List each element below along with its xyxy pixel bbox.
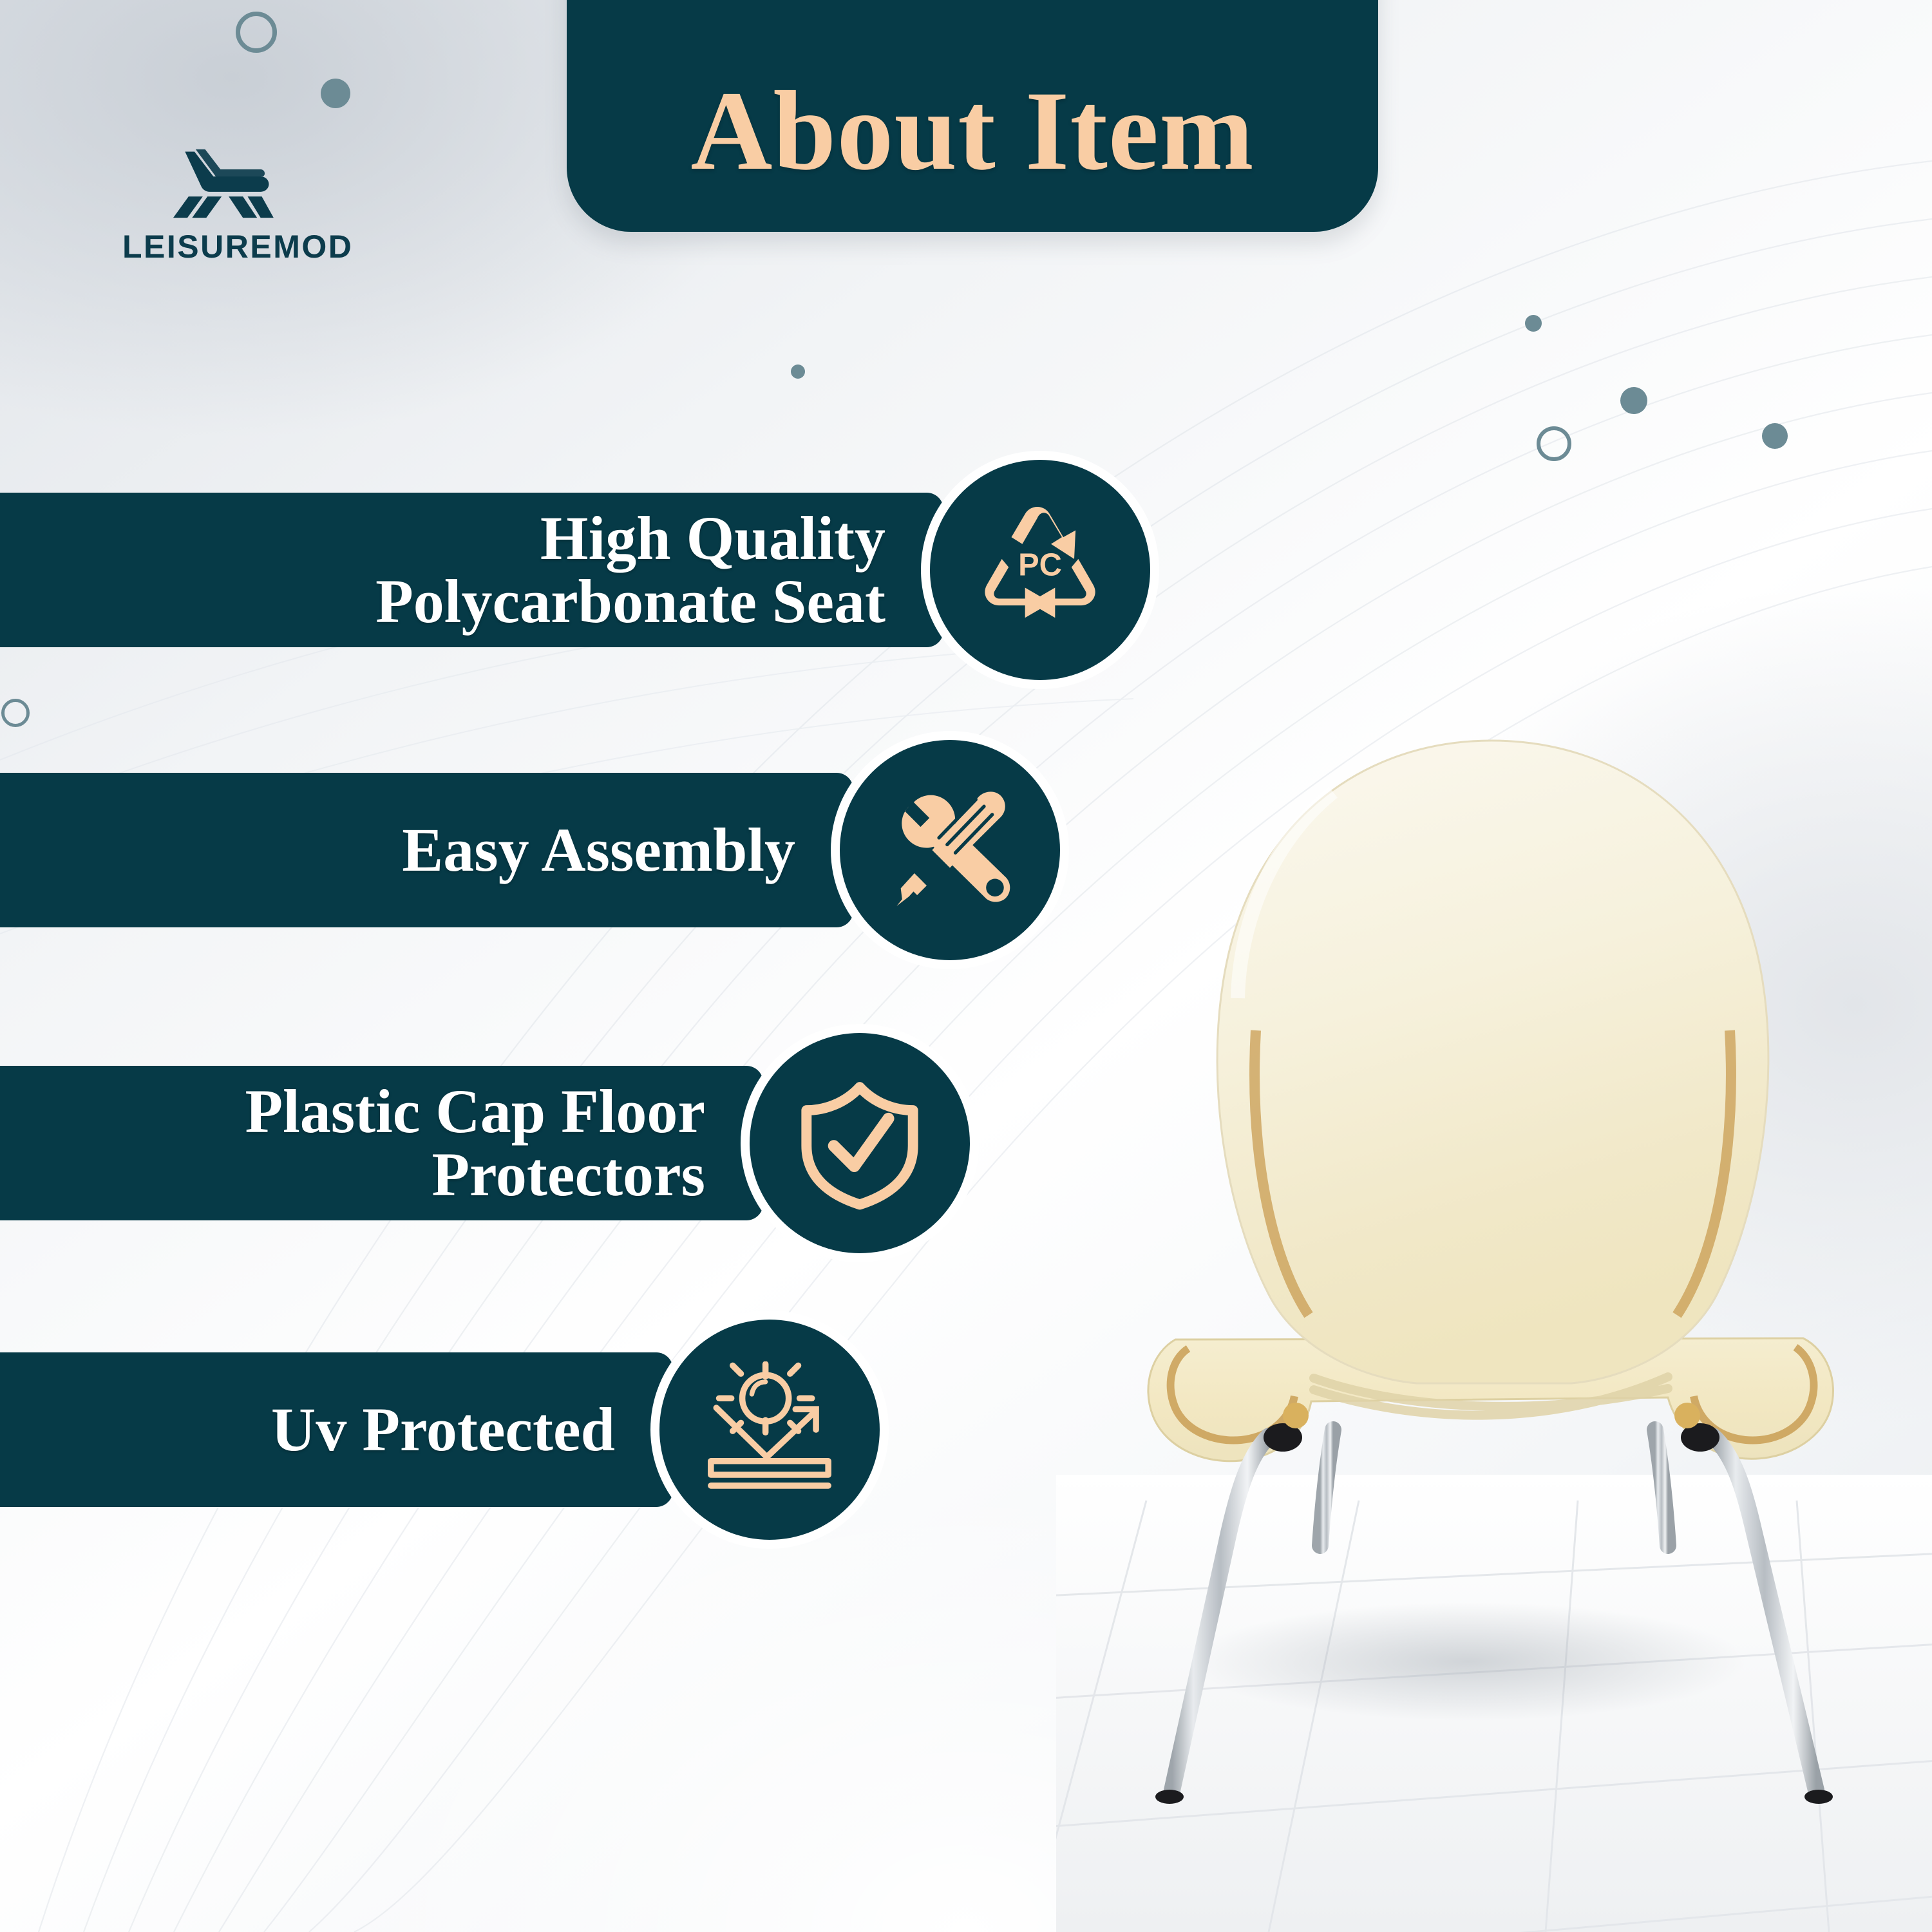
infographic-canvas: About Item LEISUREMOD	[0, 0, 1932, 1932]
feature-bar[interactable]: Plastic Cap Floor Protectors	[0, 1066, 763, 1220]
feature-icon-circle	[750, 1033, 970, 1253]
feature-icon-circle	[840, 740, 1060, 960]
feature-row: High Quality Polycarbonate Seat PC	[0, 451, 1185, 689]
feature-label: Plastic Cap Floor Protectors	[245, 1080, 705, 1206]
dot-fill-right-mid	[1620, 387, 1647, 414]
wrench-screwdriver-icon	[882, 782, 1018, 918]
feature-icon-circle	[659, 1320, 880, 1540]
brand-wordmark: LEISUREMOD	[122, 228, 309, 265]
product-image-chair	[1056, 696, 1932, 1932]
dot-ring-left-mid	[1, 699, 30, 727]
brand-logo: LEISUREMOD	[122, 148, 309, 265]
dot-fill-mid-top	[791, 365, 805, 379]
pc-label: PC	[1018, 547, 1062, 582]
feature-row: Easy Assembly	[0, 731, 1095, 969]
dot-fill-top-left	[321, 79, 350, 108]
feature-row: Plastic Cap Floor Protectors	[0, 1024, 1005, 1262]
page-title: About Item	[690, 75, 1254, 232]
feature-label: Uv Protected	[271, 1398, 615, 1461]
dot-fill-right-upper	[1525, 315, 1542, 332]
feature-label: Easy Assembly	[402, 819, 795, 882]
pc-recycle-icon: PC	[972, 502, 1108, 638]
shield-check-icon	[791, 1075, 928, 1211]
uv-sun-reflect-icon	[701, 1361, 838, 1498]
dot-fill-far-right	[1762, 423, 1788, 449]
header-banner: About Item	[567, 0, 1378, 232]
feature-label: High Quality Polycarbonate Seat	[375, 507, 885, 633]
dot-ring-top-left	[236, 12, 277, 53]
feature-bar[interactable]: Easy Assembly	[0, 773, 853, 927]
chaise-lounge-chair-icon	[155, 148, 277, 219]
feature-icon-badge[interactable]	[741, 1024, 979, 1262]
feature-icon-circle: PC	[930, 460, 1150, 680]
feature-icon-badge[interactable]	[831, 731, 1069, 969]
feature-bar[interactable]: Uv Protected	[0, 1352, 673, 1507]
feature-row: Uv Protected	[0, 1311, 914, 1549]
dot-ring-right-lower	[1537, 426, 1571, 461]
feature-icon-badge[interactable]	[650, 1311, 889, 1549]
feature-icon-badge[interactable]: PC	[921, 451, 1159, 689]
feature-bar[interactable]: High Quality Polycarbonate Seat	[0, 493, 943, 647]
